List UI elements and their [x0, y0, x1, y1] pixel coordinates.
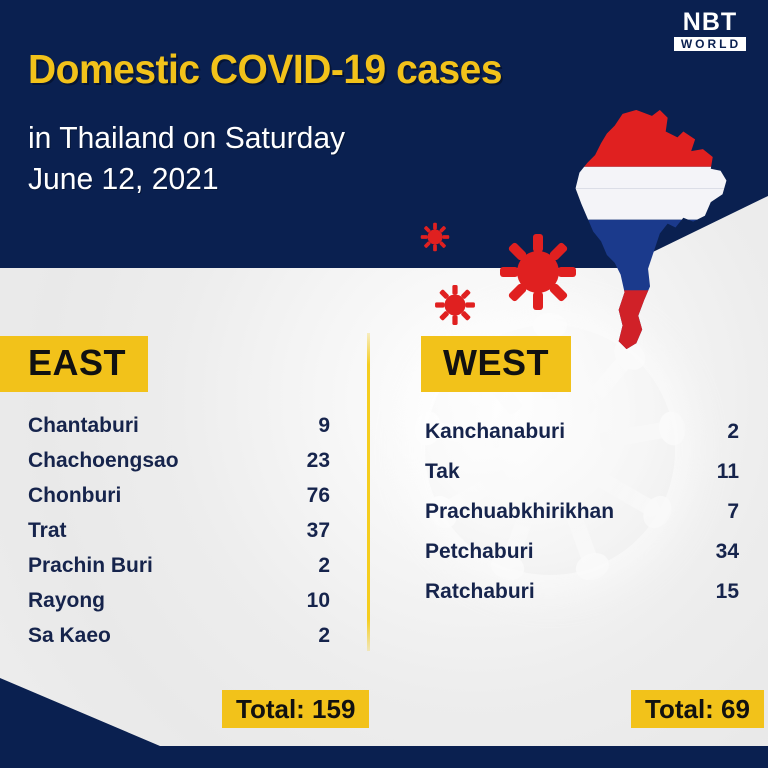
province-case-count: 2: [727, 420, 739, 444]
province-case-count: 2: [318, 624, 330, 648]
table-row: Kanchanaburi 2: [421, 420, 761, 460]
total-badge-east: Total: 159: [222, 690, 369, 728]
table-row: Tak 11: [421, 460, 761, 500]
logo-world-text: WORLD: [674, 37, 746, 51]
total-badge-west: Total: 69: [631, 690, 764, 728]
page-title: Domestic COVID-19 cases: [28, 46, 502, 93]
province-case-count: 7: [727, 500, 739, 524]
logo-nbt-text: NBT: [668, 10, 752, 35]
province-name: Tak: [425, 460, 460, 484]
virus-icon-small-lower: [434, 284, 476, 326]
province-case-count: 10: [307, 589, 330, 613]
region-label-east: EAST: [0, 336, 148, 392]
province-name: Sa Kaeo: [28, 624, 111, 648]
province-case-count: 15: [716, 580, 739, 604]
subtitle-line-1: in Thailand on Saturday: [28, 118, 345, 159]
province-name: Chonburi: [28, 484, 121, 508]
province-case-count: 2: [318, 554, 330, 578]
province-list-west: Kanchanaburi 2 Tak 11 Prachuabkhirikhan …: [421, 420, 761, 620]
province-case-count: 9: [318, 414, 330, 438]
region-column-east: EAST Chantaburi 9 Chachoengsao 23 Chonbu…: [0, 336, 350, 659]
province-name: Kanchanaburi: [425, 420, 565, 444]
province-name: Chachoengsao: [28, 449, 179, 473]
province-name: Chantaburi: [28, 414, 139, 438]
province-case-count: 37: [307, 519, 330, 543]
page-subtitle: in Thailand on Saturday June 12, 2021: [28, 118, 345, 200]
nbt-world-logo: NBT WORLD: [668, 10, 752, 52]
province-case-count: 11: [717, 460, 739, 484]
region-column-west: WEST Kanchanaburi 2 Tak 11 Prachuabkhiri…: [421, 336, 761, 620]
province-name: Trat: [28, 519, 67, 543]
table-row: Ratchaburi 15: [421, 580, 761, 620]
subtitle-line-2: June 12, 2021: [28, 159, 345, 200]
table-row: Chachoengsao 23: [0, 449, 350, 484]
province-name: Ratchaburi: [425, 580, 535, 604]
province-list-east: Chantaburi 9 Chachoengsao 23 Chonburi 76…: [0, 414, 350, 659]
province-name: Petchaburi: [425, 540, 534, 564]
province-name: Rayong: [28, 589, 105, 613]
virus-icon-small-left: [420, 222, 450, 252]
province-name: Prachin Buri: [28, 554, 153, 578]
province-name: Prachuabkhirikhan: [425, 500, 614, 524]
table-row: Petchaburi 34: [421, 540, 761, 580]
virus-icon-large: [498, 232, 578, 312]
province-case-count: 76: [307, 484, 330, 508]
table-row: Trat 37: [0, 519, 350, 554]
table-row: Prachin Buri 2: [0, 554, 350, 589]
table-row: Sa Kaeo 2: [0, 624, 350, 659]
table-row: Chantaburi 9: [0, 414, 350, 449]
column-divider: [367, 333, 370, 651]
thailand-map-flag-icon: [556, 108, 746, 353]
infographic-page: Domestic COVID-19 cases in Thailand on S…: [0, 0, 768, 768]
province-case-count: 34: [716, 540, 739, 564]
table-row: Rayong 10: [0, 589, 350, 624]
table-row: Chonburi 76: [0, 484, 350, 519]
province-case-count: 23: [307, 449, 330, 473]
region-label-west: WEST: [421, 336, 571, 392]
table-row: Prachuabkhirikhan 7: [421, 500, 761, 540]
